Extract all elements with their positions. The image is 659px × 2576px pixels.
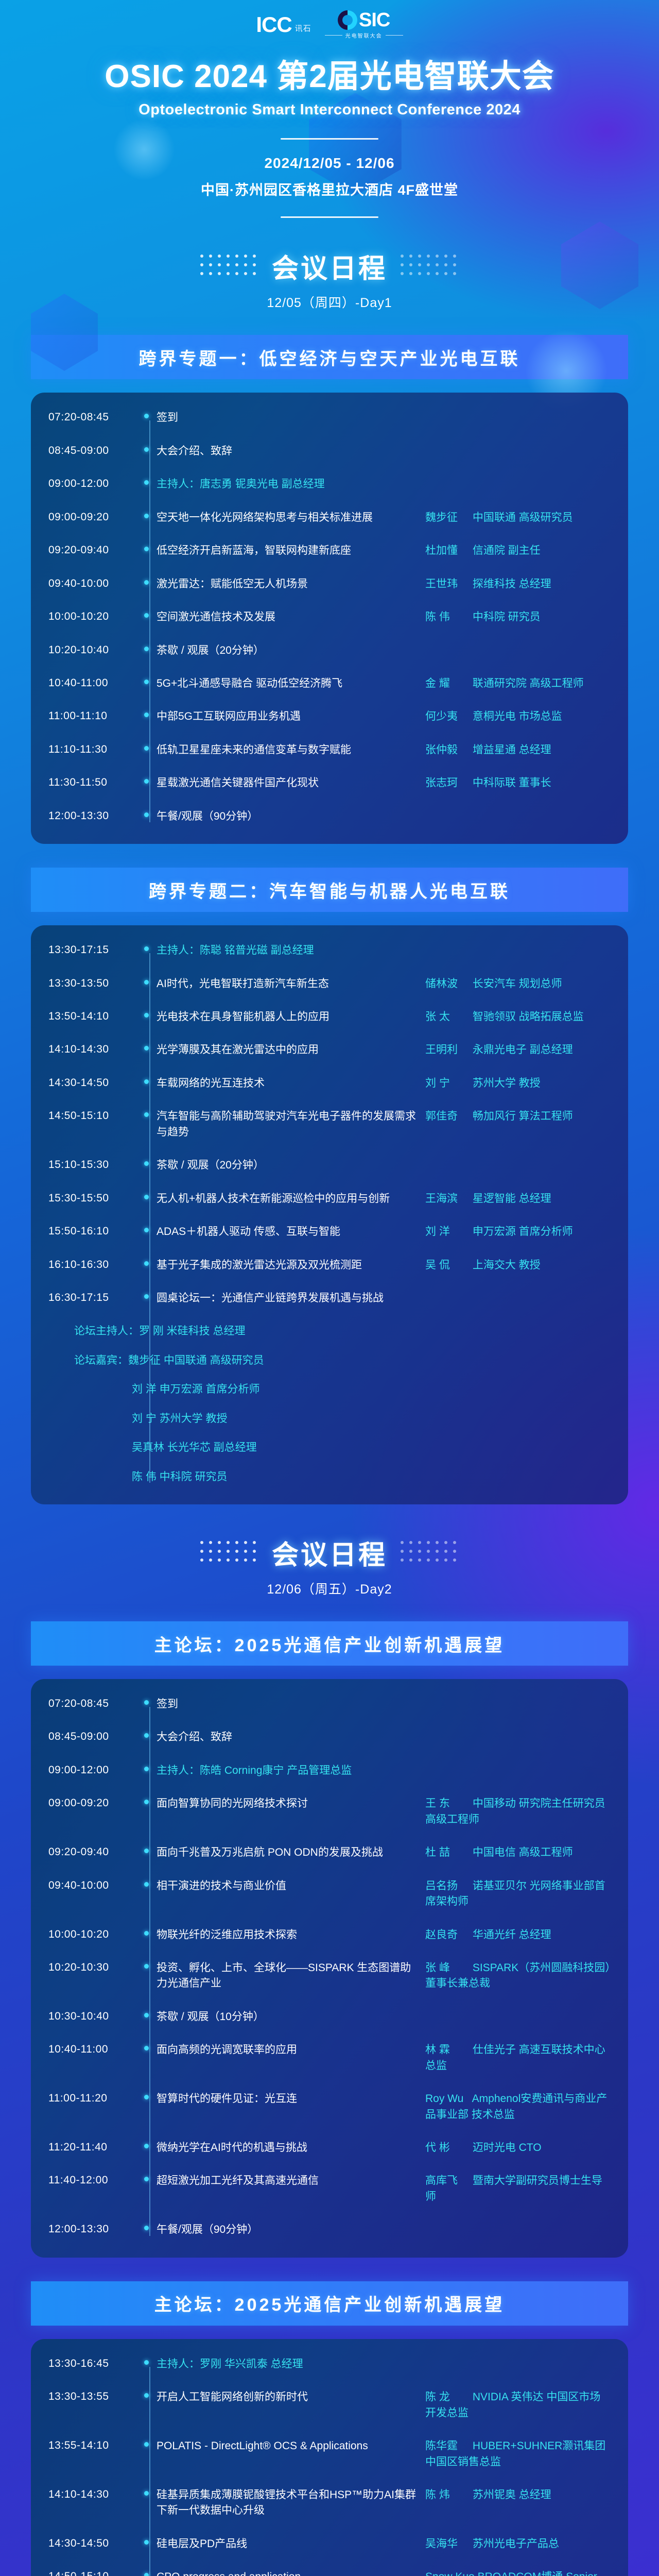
- timeline-bullet: [136, 976, 157, 985]
- bullet-dot-icon: [144, 514, 149, 518]
- agenda-body: 面向千兆普及万兆启航 PON ODN的发展及挑战杜 喆 中国电信 高级工程师: [157, 1845, 611, 1860]
- agenda-speaker: Roy Wu Amphenol安费通讯与商业产品事业部 技术总监: [425, 2091, 611, 2123]
- speaker-name: 吕名扬: [425, 1878, 470, 1894]
- agenda-subject: 投资、孵化、上市、全球化——SISPARK 生态图谱助力光通信产业: [157, 1960, 420, 1992]
- dot: [401, 1558, 404, 1562]
- agenda-time: 10:40-11:00: [48, 676, 136, 690]
- dot: [453, 1541, 456, 1544]
- bullet-dot-icon: [144, 713, 149, 717]
- agenda-speaker: 王 东 中国移动 研究院主任研究员 高级工程师: [425, 1796, 611, 1827]
- timeline-bullet: [136, 809, 157, 817]
- agenda-time: 11:20-11:40: [48, 2140, 136, 2154]
- speaker-name: 王海滨: [425, 1191, 470, 1207]
- dot: [253, 263, 256, 266]
- dot: [453, 1558, 456, 1562]
- agenda-time: 13:30-13:50: [48, 976, 136, 990]
- agenda-speaker: 林 霖 仕佳光子 高速互联技术中心总监: [425, 2042, 611, 2074]
- agenda-row: 09:00-09:20空天地一体化光网络架构思考与相关标准进展魏步征 中国联通 …: [31, 510, 628, 526]
- agenda-body: 物联光纤的泛维应用技术探索赵良奇 华通光纤 总经理: [157, 1927, 611, 1943]
- bullet-dot-icon: [144, 2177, 149, 2181]
- hero-divider-bottom: [281, 216, 378, 218]
- agenda-speaker: 代 彬 迈时光电 CTO: [425, 2140, 611, 2156]
- dot: [227, 263, 230, 266]
- bullet-dot-icon: [144, 1195, 149, 1199]
- agenda-subject: 面向千兆普及万兆启航 PON ODN的发展及挑战: [157, 1845, 420, 1860]
- bullet-dot-icon: [144, 2095, 149, 2099]
- agenda-time: 10:00-10:20: [48, 609, 136, 623]
- dot: [200, 1558, 203, 1562]
- divider: [386, 35, 403, 36]
- agenda-time: 10:00-10:20: [48, 1927, 136, 1941]
- agenda-row: 11:10-11:30低轨卫星星座未来的通信变革与数字赋能张仲毅 增益星通 总经…: [31, 742, 628, 758]
- agenda-row: 10:20-10:40茶歇 / 观展（20分钟）: [31, 643, 628, 658]
- bullet-dot-icon: [144, 1931, 149, 1936]
- dot: [409, 1550, 412, 1553]
- agenda-subject: 开启人工智能网络创新的新时代: [157, 2389, 420, 2405]
- hero-divider: [281, 138, 378, 140]
- bullet-dot-icon: [144, 1849, 149, 1853]
- agenda-body: 面向高频的光调宽联率的应用林 霖 仕佳光子 高速互联技术中心总监: [157, 2042, 611, 2074]
- agenda-time: 14:10-14:30: [48, 1042, 136, 1056]
- agenda-row: 09:20-09:40低空经济开启新蓝海，智联网构建新底座杜加懂 信通院 副主任: [31, 543, 628, 558]
- speaker-name: 陈 龙: [425, 2389, 470, 2405]
- agenda-row: 14:30-14:50硅电层及PD产品线吴海华 苏州光电子产品总: [31, 2536, 628, 2552]
- agenda-time: 08:45-09:00: [48, 1730, 136, 1743]
- timeline-bullet: [136, 1927, 157, 1936]
- agenda-speaker: 储林波 长安汽车 规划总师: [425, 976, 611, 992]
- agenda-speaker: 王世玮 探维科技 总经理: [425, 577, 611, 592]
- agenda-body: 光电技术在具身智能机器人上的应用张 太 智驰领驭 战略拓展总监: [157, 1009, 611, 1025]
- bullet-dot-icon: [144, 1800, 149, 1804]
- dot: [418, 1550, 421, 1553]
- agenda-row: 10:30-10:40茶歇 / 观展（10分钟）: [31, 2009, 628, 2025]
- agenda-row: 09:40-10:00激光雷达：赋能低空无人机场景王世玮 探维科技 总经理: [31, 577, 628, 592]
- agenda-card: 07:20-08:45签到08:45-09:00大会介绍、致辞09:00-12:…: [31, 393, 628, 844]
- dot: [427, 263, 430, 266]
- agenda-time: 14:10-14:30: [48, 2487, 136, 2501]
- dot: [227, 1541, 230, 1544]
- bullet-dot-icon: [144, 1013, 149, 1018]
- agenda-subject: 茶歇 / 观展（20分钟）: [157, 1158, 611, 1173]
- agenda-subject: 无人机+机器人技术在新能源巡检中的应用与创新: [157, 1191, 420, 1207]
- dot: [436, 1541, 439, 1544]
- timeline-bullet: [136, 1191, 157, 1199]
- timeline-bullet: [136, 2222, 157, 2230]
- speaker-name: 金 耀: [425, 676, 470, 691]
- agenda-row: 09:00-12:00主持人：唐志勇 铌奥光电 副总经理: [31, 477, 628, 492]
- dot: [235, 272, 238, 275]
- day-banner-subtitle: 12/06（周五）-Day2: [0, 1579, 659, 1598]
- day-banner-2: 会议日程12/06（周五）-Day2: [0, 1533, 659, 1598]
- dot: [401, 255, 404, 258]
- topic-strip: 主论坛：2025光通信产业创新机遇展望: [31, 2281, 628, 2326]
- dot: [436, 263, 439, 266]
- bullet-dot-icon: [144, 2046, 149, 2050]
- agenda-speaker: 金 耀 联通研究院 高级工程师: [425, 676, 611, 691]
- agenda-time: 09:40-10:00: [48, 1878, 136, 1892]
- dot: [227, 272, 230, 275]
- timeline-bullet: [136, 477, 157, 485]
- agenda-time: 11:00-11:10: [48, 709, 136, 723]
- agenda-body: 车载网络的光互连技术刘 宁 苏州大学 教授: [157, 1076, 611, 1091]
- agenda-time: 16:10-16:30: [48, 1258, 136, 1272]
- timeline-bullet: [136, 2438, 157, 2447]
- agenda-subject: 中部5G工互联网应用业务机遇: [157, 709, 420, 724]
- agenda-subject: 超短激光加工光纤及其高速光通信: [157, 2173, 420, 2189]
- bullet-dot-icon: [144, 2226, 149, 2230]
- agenda-speaker: 魏步征 中国联通 高级研究员: [425, 510, 611, 526]
- agenda-body: 中部5G工互联网应用业务机遇何少夷 意桐光电 市场总监: [157, 709, 611, 724]
- speaker-name: 王世玮: [425, 577, 470, 592]
- timeline-bullet: [136, 1763, 157, 1771]
- agenda-time: 13:30-16:45: [48, 2357, 136, 2370]
- timeline-bullet: [136, 2357, 157, 2365]
- timeline-bullet: [136, 1009, 157, 1018]
- agenda-body: 基于光子集成的激光雷达光源及双光梳测距吴 侃 上海交大 教授: [157, 1258, 611, 1273]
- agenda-body: 开启人工智能网络创新的新时代陈 龙 NVIDIA 英伟达 中国区市场开发总监: [157, 2389, 611, 2421]
- dot-grid-decoration: [401, 255, 459, 278]
- timeline-bullet: [136, 1158, 157, 1166]
- timeline-bullet: [136, 1845, 157, 1853]
- dot: [401, 272, 404, 275]
- day-banner-title-row: 会议日程: [0, 247, 659, 285]
- agenda-row: 13:30-13:50AI时代，光电智联打造新汽车新生态储林波 长安汽车 规划总…: [31, 976, 628, 992]
- agenda-time: 13:55-14:10: [48, 2438, 136, 2452]
- panel-guest-line: 刘 洋 申万宏源 首席分析师: [31, 1382, 628, 1397]
- agenda-row: 15:10-15:30茶歇 / 观展（20分钟）: [31, 1158, 628, 1173]
- timeline-bullet: [136, 444, 157, 452]
- agenda-time: 11:10-11:30: [48, 742, 136, 756]
- agenda-subject: 低空经济开启新蓝海，智联网构建新底座: [157, 543, 420, 558]
- dot: [418, 1558, 421, 1562]
- dot: [409, 1541, 412, 1544]
- agenda-subject: 签到: [157, 1697, 611, 1712]
- bullet-dot-icon: [144, 1161, 149, 1166]
- timeline-bullet: [136, 2042, 157, 2050]
- dot: [235, 1550, 238, 1553]
- dot: [253, 272, 256, 275]
- agenda-row: 14:10-14:30光学薄膜及其在激光雷达中的应用王明利 永鼎光电子 副总经理: [31, 1042, 628, 1058]
- timeline-bullet: [136, 577, 157, 585]
- dot: [253, 1550, 256, 1553]
- osic-tagline: 光电智联大会: [345, 31, 383, 39]
- dot: [227, 255, 230, 258]
- dot: [436, 255, 439, 258]
- dot: [453, 263, 456, 266]
- agenda-time: 15:30-15:50: [48, 1191, 136, 1205]
- dot: [444, 1550, 447, 1553]
- agenda-subject: 主持人：陈聪 铭普光磁 副总经理: [157, 943, 611, 958]
- agenda-body: 茶歇 / 观展（20分钟）: [157, 1158, 611, 1173]
- panel-host-line: 论坛主持人：罗 刚 米硅科技 总经理: [31, 1324, 628, 1339]
- bullet-dot-icon: [144, 2442, 149, 2447]
- dot: [436, 1558, 439, 1562]
- timeline-bullet: [136, 2389, 157, 2398]
- speaker-name: 张 峰: [425, 1960, 470, 1976]
- dot: [409, 255, 412, 258]
- bullet-dot-icon: [144, 447, 149, 452]
- osic-wordmark: SIC: [359, 10, 390, 30]
- agenda-time: 14:30-14:50: [48, 2536, 136, 2550]
- day-banner-subtitle: 12/05（周四）-Day1: [0, 293, 659, 311]
- bullet-dot-icon: [144, 746, 149, 751]
- day-banner-title: 会议日程: [272, 247, 387, 285]
- dot: [453, 255, 456, 258]
- agenda-time: 16:30-17:15: [48, 1291, 136, 1304]
- agenda-subject: 主持人：陈皓 Corning康宁 产品管理总监: [157, 1763, 611, 1778]
- agenda-row: 14:50-15:10CPO progress and applicationS…: [31, 2569, 628, 2576]
- agenda-subject: POLATIS - DirectLight® OCS & Application…: [157, 2438, 420, 2454]
- agenda-body: 茶歇 / 观展（20分钟）: [157, 643, 611, 658]
- timeline-bullet: [136, 609, 157, 618]
- page-title: OSIC 2024 第2届光电智联大会: [0, 59, 659, 94]
- bullet-dot-icon: [144, 1112, 149, 1117]
- top-logo-bar: ICC 讯石 SIC 光电智联大会: [0, 0, 659, 49]
- speaker-name: 高库飞: [425, 2173, 470, 2189]
- day-banner-1: 会议日程12/05（周四）-Day1: [0, 247, 659, 311]
- dot: [218, 1541, 221, 1544]
- agenda-body: 超短激光加工光纤及其高速光通信高库飞 暨南大学副研究员博士生导师: [157, 2173, 611, 2205]
- dot: [244, 255, 247, 258]
- agenda-time: 13:50-14:10: [48, 1009, 136, 1023]
- agenda-speaker: 陈 伟 中科院 研究员: [425, 609, 611, 625]
- agenda-row: 09:20-09:40面向千兆普及万兆启航 PON ODN的发展及挑战杜 喆 中…: [31, 1845, 628, 1860]
- bullet-dot-icon: [144, 1079, 149, 1084]
- agenda-body: AI时代，光电智联打造新汽车新生态储林波 长安汽车 规划总师: [157, 976, 611, 992]
- dot: [209, 1550, 212, 1553]
- speaker-name: 陈华霆: [425, 2438, 470, 2454]
- speaker-name: 陈 炜: [425, 2487, 470, 2503]
- timeline-bullet: [136, 543, 157, 551]
- agenda-row: 13:55-14:10POLATIS - DirectLight® OCS & …: [31, 2438, 628, 2470]
- dot: [200, 272, 203, 275]
- topic-strip: 跨界专题二：汽车智能与机器人光电互联: [31, 868, 628, 912]
- agenda-subject: 光学薄膜及其在激光雷达中的应用: [157, 1042, 420, 1058]
- agenda-time: 15:50-16:10: [48, 1224, 136, 1238]
- osic-logo: SIC 光电智联大会: [325, 10, 403, 39]
- speaker-name: 魏步征: [425, 510, 470, 526]
- agenda-time: 10:20-10:40: [48, 643, 136, 657]
- bullet-dot-icon: [144, 1261, 149, 1266]
- timeline-bullet: [136, 1878, 157, 1887]
- hero-venue: 中国·苏州园区香格里拉大酒店 4F盛世堂: [0, 179, 659, 199]
- agenda-body: 大会介绍、致辞: [157, 444, 611, 459]
- icc-wordmark: ICC: [256, 14, 291, 36]
- agenda-card: 13:30-16:45主持人：罗刚 华兴凯泰 总经理13:30-13:55开启人…: [31, 2339, 628, 2576]
- dot: [409, 263, 412, 266]
- agenda-speaker: Snow Kuo BROADCOM博通 Senior BD Manager: [425, 2569, 611, 2576]
- osic-ring-icon: [334, 6, 361, 34]
- agenda-speaker: 吴 侃 上海交大 教授: [425, 1258, 611, 1273]
- bullet-dot-icon: [144, 580, 149, 585]
- agenda-time: 13:30-13:55: [48, 2389, 136, 2403]
- dot: [235, 255, 238, 258]
- hero-date: 2024/12/05 - 12/06: [0, 155, 659, 172]
- dot: [444, 1558, 447, 1562]
- agenda-body: 面向智算协同的光网络技术探讨王 东 中国移动 研究院主任研究员 高级工程师: [157, 1796, 611, 1827]
- speaker-name: 何少夷: [425, 709, 470, 724]
- agenda-subject: 面向高频的光调宽联率的应用: [157, 2042, 420, 2058]
- dot: [200, 1550, 203, 1553]
- timeline-bullet: [136, 2487, 157, 2496]
- agenda-time: 14:50-15:10: [48, 1109, 136, 1123]
- agenda-subject: 物联光纤的泛维应用技术探索: [157, 1927, 420, 1943]
- dot: [200, 1541, 203, 1544]
- agenda-subject: 低轨卫星星座未来的通信变革与数字赋能: [157, 742, 420, 758]
- agenda-subject: 硅基异质集成薄膜铌酸锂技术平台和HSP™助力AI集群下新一代数据中心升级: [157, 2487, 420, 2519]
- dot: [253, 255, 256, 258]
- dot: [200, 263, 203, 266]
- bullet-dot-icon: [144, 613, 149, 618]
- timeline-bullet: [136, 2569, 157, 2576]
- agenda-subject: 车载网络的光互连技术: [157, 1076, 420, 1091]
- agenda-card: 07:20-08:45签到08:45-09:00大会介绍、致辞09:00-12:…: [31, 1679, 628, 2258]
- icc-logo-cn: 讯石: [295, 23, 311, 36]
- agenda-time: 10:40-11:00: [48, 2042, 136, 2056]
- speaker-name: Snow Kuo: [425, 2569, 475, 2576]
- timeline-bullet: [136, 2536, 157, 2545]
- bullet-dot-icon: [144, 946, 149, 951]
- dot: [427, 1550, 430, 1553]
- panel-guest-line: 论坛嘉宾：魏步征 中国联通 高级研究员: [31, 1353, 628, 1368]
- agenda-speaker: 郭佳奇 畅加风行 算法工程师: [425, 1109, 611, 1124]
- agenda-subject: ADAS＋机器人驱动 传感、互联与智能: [157, 1224, 420, 1240]
- timeline-bullet: [136, 1960, 157, 1969]
- bullet-dot-icon: [144, 680, 149, 684]
- agenda-row: 13:30-16:45主持人：罗刚 华兴凯泰 总经理: [31, 2357, 628, 2372]
- speaker-name: Roy Wu: [425, 2091, 470, 2107]
- agenda-time: 14:50-15:10: [48, 2569, 136, 2576]
- dot: [209, 255, 212, 258]
- agenda-body: 圆桌论坛一：光通信产业链跨界发展机遇与挑战: [157, 1291, 611, 1306]
- speaker-name: 林 霖: [425, 2042, 470, 2058]
- dot: [453, 1550, 456, 1553]
- dot: [444, 255, 447, 258]
- agenda-days-root: 会议日程12/05（周四）-Day1跨界专题一：低空经济与空天产业光电互联07:…: [0, 247, 659, 2576]
- agenda-time: 15:10-15:30: [48, 1158, 136, 1172]
- agenda-subject: 硅电层及PD产品线: [157, 2536, 420, 2552]
- speaker-name: 储林波: [425, 976, 470, 992]
- agenda-body: 微纳光学在AI时代的机遇与挑战代 彬 迈时光电 CTO: [157, 2140, 611, 2156]
- agenda-row: 11:40-12:00超短激光加工光纤及其高速光通信高库飞 暨南大学副研究员博士…: [31, 2173, 628, 2205]
- agenda-subject: 面向智算协同的光网络技术探讨: [157, 1796, 420, 1811]
- dot: [235, 1558, 238, 1562]
- agenda-body: 无人机+机器人技术在新能源巡检中的应用与创新王海滨 星逻智能 总经理: [157, 1191, 611, 1207]
- agenda-body: 硅基异质集成薄膜铌酸锂技术平台和HSP™助力AI集群下新一代数据中心升级陈 炜 …: [157, 2487, 611, 2519]
- agenda-row: 11:00-11:10中部5G工互联网应用业务机遇何少夷 意桐光电 市场总监: [31, 709, 628, 724]
- agenda-subject: 相干演进的技术与商业价值: [157, 1878, 420, 1894]
- timeline-bullet: [136, 1258, 157, 1266]
- agenda-subject: 茶歇 / 观展（20分钟）: [157, 643, 611, 658]
- timeline-bullet: [136, 2091, 157, 2099]
- speaker-name: 代 彬: [425, 2140, 470, 2156]
- agenda-body: CPO progress and applicationSnow Kuo BRO…: [157, 2569, 611, 2576]
- agenda-body: 硅电层及PD产品线吴海华 苏州光电子产品总: [157, 2536, 611, 2552]
- topic-strip: 跨界专题一：低空经济与空天产业光电互联: [31, 335, 628, 379]
- dot: [453, 272, 456, 275]
- agenda-subject: 微纳光学在AI时代的机遇与挑战: [157, 2140, 420, 2156]
- agenda-time: 10:20-10:30: [48, 1960, 136, 1974]
- agenda-subject: 激光雷达：赋能低空无人机场景: [157, 577, 420, 592]
- agenda-row: 09:00-12:00主持人：陈皓 Corning康宁 产品管理总监: [31, 1763, 628, 1778]
- dot: [209, 1541, 212, 1544]
- agenda-time: 08:45-09:00: [48, 444, 136, 457]
- panel-guest-line: 吴真林 长光华芯 副总经理: [31, 1440, 628, 1455]
- agenda-speaker: 何少夷 意桐光电 市场总监: [425, 709, 611, 724]
- divider: [325, 35, 342, 36]
- bullet-dot-icon: [144, 1228, 149, 1232]
- agenda-body: 空天地一体化光网络架构思考与相关标准进展魏步征 中国联通 高级研究员: [157, 510, 611, 526]
- agenda-speaker: 杜 喆 中国电信 高级工程师: [425, 1845, 611, 1860]
- agenda-speaker: 王明利 永鼎光电子 副总经理: [425, 1042, 611, 1058]
- agenda-body: 汽车智能与高阶辅助驾驶对汽车光电子器件的发展需求与趋势郭佳奇 畅加风行 算法工程…: [157, 1109, 611, 1140]
- agenda-time: 12:00-13:30: [48, 2222, 136, 2236]
- topic-label: 跨界专题一：低空经济与空天产业光电互联: [139, 345, 521, 370]
- speaker-name: 杜 喆: [425, 1845, 470, 1860]
- agenda-time: 09:00-12:00: [48, 1763, 136, 1777]
- speaker-name: 吴海华: [425, 2536, 470, 2552]
- timeline-bullet: [136, 510, 157, 518]
- agenda-subject: 签到: [157, 410, 611, 426]
- dot: [218, 1558, 221, 1562]
- timeline-bullet: [136, 1076, 157, 1084]
- agenda-body: 大会介绍、致辞: [157, 1730, 611, 1745]
- agenda-subject: 午餐/观展（90分钟）: [157, 809, 611, 824]
- agenda-speaker: 张 太 智驰领驭 战略拓展总监: [425, 1009, 611, 1025]
- agenda-time: 07:20-08:45: [48, 1697, 136, 1710]
- agenda-subject: 空天地一体化光网络架构思考与相关标准进展: [157, 510, 420, 526]
- agenda-card: 13:30-17:15主持人：陈聪 铭普光磁 副总经理13:30-13:50AI…: [31, 925, 628, 1504]
- agenda-body: 午餐/观展（90分钟）: [157, 2222, 611, 2238]
- agenda-body: 投资、孵化、上市、全球化——SISPARK 生态图谱助力光通信产业张 峰 SIS…: [157, 1960, 611, 1992]
- bullet-dot-icon: [144, 1294, 149, 1299]
- agenda-row: 11:00-11:20智算时代的硬件见证：光互连Roy Wu Amphenol安…: [31, 2091, 628, 2123]
- agenda-row: 13:30-13:55开启人工智能网络创新的新时代陈 龙 NVIDIA 英伟达 …: [31, 2389, 628, 2421]
- bullet-dot-icon: [144, 2540, 149, 2545]
- agenda-body: 签到: [157, 1697, 611, 1712]
- bullet-dot-icon: [144, 2573, 149, 2576]
- agenda-time: 14:30-14:50: [48, 1076, 136, 1090]
- dot: [218, 255, 221, 258]
- timeline-bullet: [136, 943, 157, 951]
- dot: [244, 272, 247, 275]
- agenda-subject: 大会介绍、致辞: [157, 1730, 611, 1745]
- agenda-body: 相干演进的技术与商业价值吕名扬 诺基亚贝尔 光网络事业部首席架构师: [157, 1878, 611, 1910]
- agenda-row: 10:40-11:005G+北斗通感导融合 驱动低空经济腾飞金 耀 联通研究院 …: [31, 676, 628, 691]
- dot: [218, 263, 221, 266]
- timeline-bullet: [136, 1697, 157, 1705]
- bullet-dot-icon: [144, 1733, 149, 1738]
- dot: [436, 272, 439, 275]
- agenda-speaker: 张志珂 中科际联 董事长: [425, 775, 611, 791]
- agenda-speaker: 陈 龙 NVIDIA 英伟达 中国区市场开发总监: [425, 2389, 611, 2421]
- agenda-row: 15:50-16:10ADAS＋机器人驱动 传感、互联与智能刘 洋 申万宏源 首…: [31, 1224, 628, 1240]
- bullet-dot-icon: [144, 1964, 149, 1969]
- agenda-row: 07:20-08:45签到: [31, 410, 628, 426]
- dot: [253, 1558, 256, 1562]
- agenda-row: 10:00-10:20空间激光通信技术及发展陈 伟 中科院 研究员: [31, 609, 628, 625]
- agenda-subject: 大会介绍、致辞: [157, 444, 611, 459]
- timeline-bullet: [136, 775, 157, 784]
- agenda-time: 13:30-17:15: [48, 943, 136, 957]
- agenda-subject: 5G+北斗通感导融合 驱动低空经济腾飞: [157, 676, 420, 691]
- agenda-subject: 光电技术在具身智能机器人上的应用: [157, 1009, 420, 1025]
- dot: [418, 1541, 421, 1544]
- agenda-speaker: 王海滨 星逻智能 总经理: [425, 1191, 611, 1207]
- agenda-row: 14:30-14:50车载网络的光互连技术刘 宁 苏州大学 教授: [31, 1076, 628, 1091]
- agenda-body: 星载激光通信关键器件国产化现状张志珂 中科际联 董事长: [157, 775, 611, 791]
- bullet-dot-icon: [144, 980, 149, 985]
